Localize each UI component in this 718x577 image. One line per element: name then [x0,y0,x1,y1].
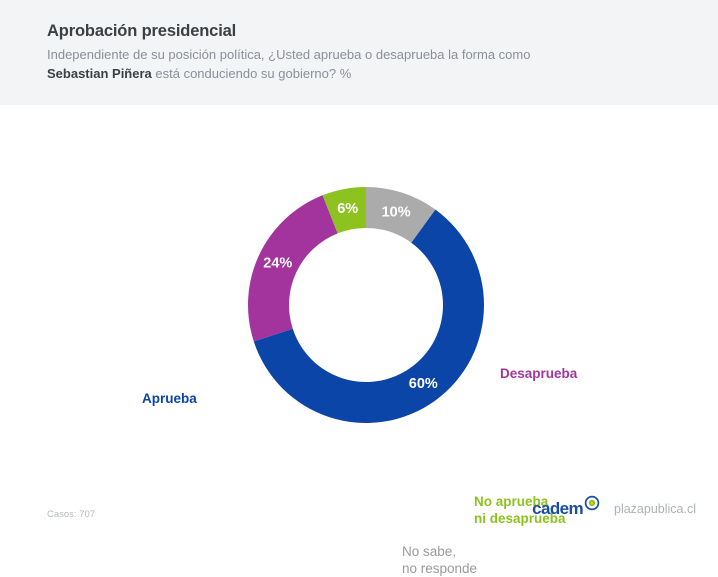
subtitle-line-2-rest: está conduciendo su gobierno? % [152,66,351,81]
slice-value-label: 10% [382,204,411,220]
footer: Casos: 707 cadem plazapublica.cl [0,490,718,538]
chart-area: 60%24%6%10% Aprueba Desaprueba No aprueb… [0,105,718,490]
slice-value-label: 24% [263,255,292,271]
cases-count: Casos: 707 [47,509,95,520]
cadem-wordmark: cadem [532,500,583,518]
subtitle-subject: Sebastian Piñera [47,66,152,81]
chart-subtitle: Independiente de su posición política, ¿… [47,45,647,83]
category-label-no-sabe-no-responde: No sabe, no responde [402,543,477,577]
subtitle-line-1: Independiente de su posición política, ¿… [47,47,530,62]
site-url: plazapublica.cl [614,502,696,516]
page-title: Aprobación presidencial [47,20,698,42]
donut-chart: 60%24%6%10% [0,105,718,490]
category-label-desaprueba: Desaprueba [500,365,577,382]
brand-block: cadem plazapublica.cl [532,500,696,518]
slice-value-label: 6% [337,201,358,217]
donut-slices [248,187,484,423]
cadem-logo: cadem [532,500,600,518]
donut-slice[interactable] [248,195,338,341]
slice-value-label: 60% [409,376,438,392]
cadem-dot-icon [584,495,600,515]
header-text-block: Aprobación presidencial Independiente de… [47,20,698,83]
category-label-aprueba: Aprueba [142,390,197,407]
header-band: Aprobación presidencial Independiente de… [0,0,718,105]
